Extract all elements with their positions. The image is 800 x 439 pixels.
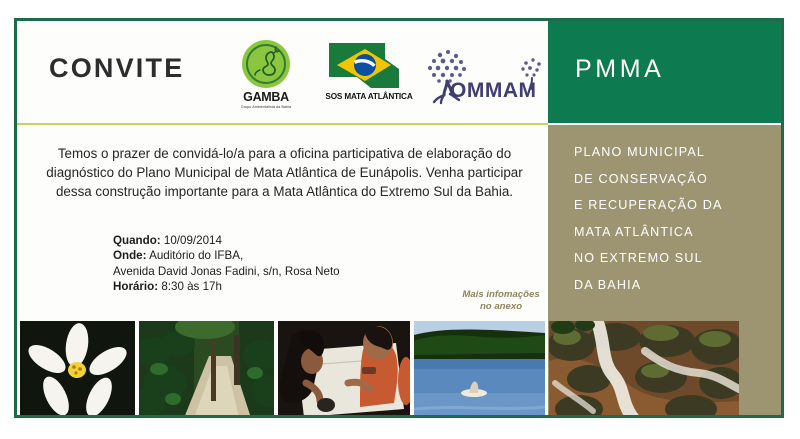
commam-logo: OMMAM: [420, 43, 548, 105]
detail-row-address: Avenida David Jonas Fadini, s/n, Rosa Ne…: [113, 264, 340, 279]
detail-row-horario: Horário: 8:30 às 17h: [113, 279, 340, 294]
river-boat-photo: [414, 321, 545, 418]
pmma-line-1: PLANO MUNICIPAL: [574, 139, 723, 166]
lead-paragraph: Temos o prazer de convidá-lo/a para a of…: [37, 144, 532, 201]
pmma-header-band: PMMA: [548, 21, 781, 123]
pmma-acronym: PMMA: [575, 55, 664, 84]
people-with-map-photo: [278, 321, 410, 418]
gamba-logo-name: GAMBA: [230, 90, 302, 104]
detail-value-address: Avenida David Jonas Fadini, s/n, Rosa Ne…: [113, 265, 340, 278]
pmma-line-6: DA BAHIA: [574, 272, 723, 299]
annex-note-line2: no anexo: [447, 301, 555, 313]
gamba-logo: GAMBA Grupo Ambientalista da Bahia: [230, 39, 302, 109]
invitation-flyer: CONVITE GAMBA Grupo Ambientalista da Bah…: [14, 18, 784, 418]
detail-label-onde: Onde:: [113, 249, 147, 262]
event-details: Quando: 10/09/2014 Onde: Auditório do IF…: [113, 233, 340, 294]
sos-logo-name: SOS MATA ATLÂNTICA: [321, 92, 417, 101]
gamba-circle-emblem-icon: [241, 39, 291, 89]
logo-header-row: CONVITE GAMBA Grupo Ambientalista da Bah…: [17, 21, 548, 123]
detail-row-onde: Onde: Auditório do IFBA,: [113, 248, 340, 263]
white-flower-photo: [20, 321, 135, 418]
pmma-line-2: DE CONSERVAÇÃO: [574, 166, 723, 193]
detail-label-quando: Quando:: [113, 234, 161, 247]
annex-note: Mais infomações no anexo: [447, 289, 555, 313]
header-divider: [17, 123, 548, 125]
detail-value-horario: 8:30 às 17h: [161, 280, 222, 293]
sos-mata-atlantica-logo: SOS MATA ATLÂNTICA: [321, 41, 417, 101]
page-title: CONVITE: [49, 53, 184, 84]
pmma-expansion-text: PLANO MUNICIPAL DE CONSERVAÇÃO E RECUPER…: [574, 139, 723, 298]
svg-text:OMMAM: OMMAM: [450, 79, 536, 102]
detail-value-onde: Auditório do IFBA,: [149, 249, 243, 262]
detail-value-quando: 10/09/2014: [164, 234, 222, 247]
pmma-line-3: E RECUPERAÇÃO DA: [574, 192, 723, 219]
annex-note-line1: Mais infomações: [447, 289, 555, 301]
detail-label-horario: Horário:: [113, 280, 158, 293]
forest-path-photo: [139, 321, 274, 418]
brazil-flag-icon: [327, 41, 411, 90]
pmma-line-5: NO EXTREMO SUL: [574, 245, 723, 272]
photo-strip: [17, 321, 781, 418]
tree-icon: OMMAM: [420, 43, 548, 105]
detail-row-quando: Quando: 10/09/2014: [113, 233, 340, 248]
gamba-logo-tagline: Grupo Ambientalista da Bahia: [230, 105, 302, 109]
rocky-stream-photo: [549, 321, 739, 418]
pmma-line-4: MATA ATLÂNTICA: [574, 219, 723, 246]
